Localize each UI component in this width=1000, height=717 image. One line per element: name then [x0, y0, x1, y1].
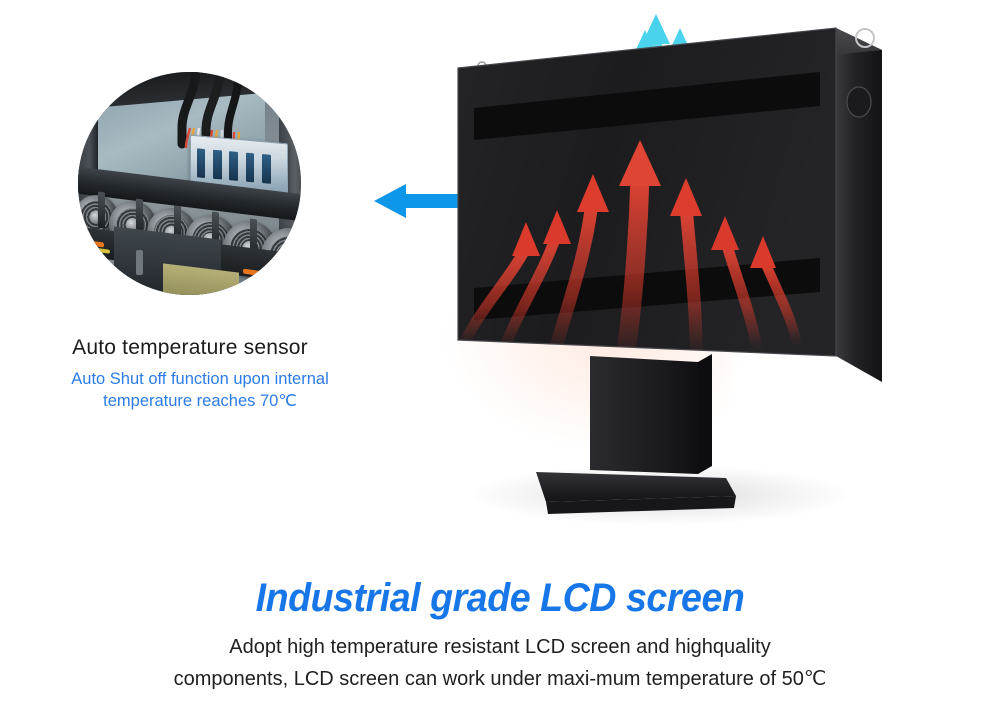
monitor-stand-column — [590, 356, 698, 474]
footer-description-line1: Adopt high temperature resistant LCD scr… — [0, 636, 1000, 659]
monitor-stand-side — [698, 354, 712, 474]
footer-description-line2: components, LCD screen can work under ma… — [0, 666, 1000, 691]
cooling-fan-photo — [78, 72, 301, 295]
callout-subtitle-line2: temperature reaches 70℃ — [103, 392, 297, 410]
monitor-graphic — [440, 10, 920, 520]
photo-door-latch — [136, 250, 143, 275]
monitor-side-panel — [836, 28, 882, 382]
lcd-monitor — [440, 10, 920, 520]
callout-subtitle-line1: Auto Shut off function upon internal — [71, 370, 328, 388]
power-button-icon — [847, 87, 871, 117]
page-headline: Industrial grade LCD screen — [30, 576, 970, 621]
infographic-stage: Auto temperature sensor Auto Shut off fu… — [0, 0, 1000, 717]
callout-subtitle: Auto Shut off function upon internal tem… — [0, 368, 400, 412]
callout-title: Auto temperature sensor — [0, 336, 380, 360]
